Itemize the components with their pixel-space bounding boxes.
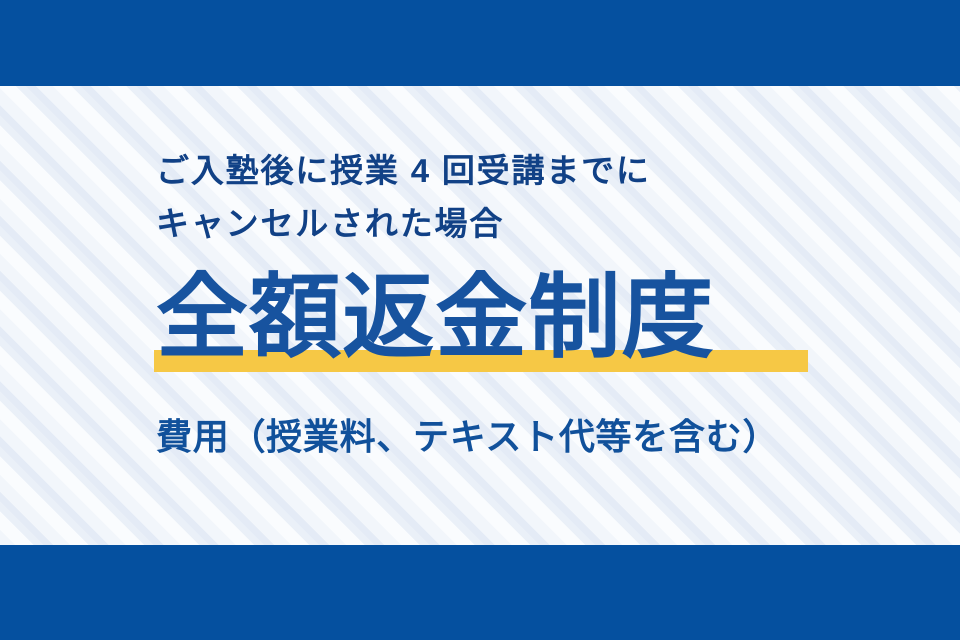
headline-block: 全額返金制度 [156, 272, 715, 382]
lede-text: ご入塾後に授業 4 回受講までに キャンセルされた場合 [156, 144, 651, 251]
subnote-text: 費用（授業料、テキスト代等を含む） [156, 414, 779, 461]
refund-policy-banner: ご入塾後に授業 4 回受講までに キャンセルされた場合 全額返金制度 費用（授業… [0, 0, 960, 640]
bottom-blue-band [0, 545, 960, 640]
top-blue-band [0, 0, 960, 86]
banner-content: ご入塾後に授業 4 回受講までに キャンセルされた場合 全額返金制度 費用（授業… [156, 86, 916, 545]
headline-text: 全額返金制度 [156, 272, 715, 364]
